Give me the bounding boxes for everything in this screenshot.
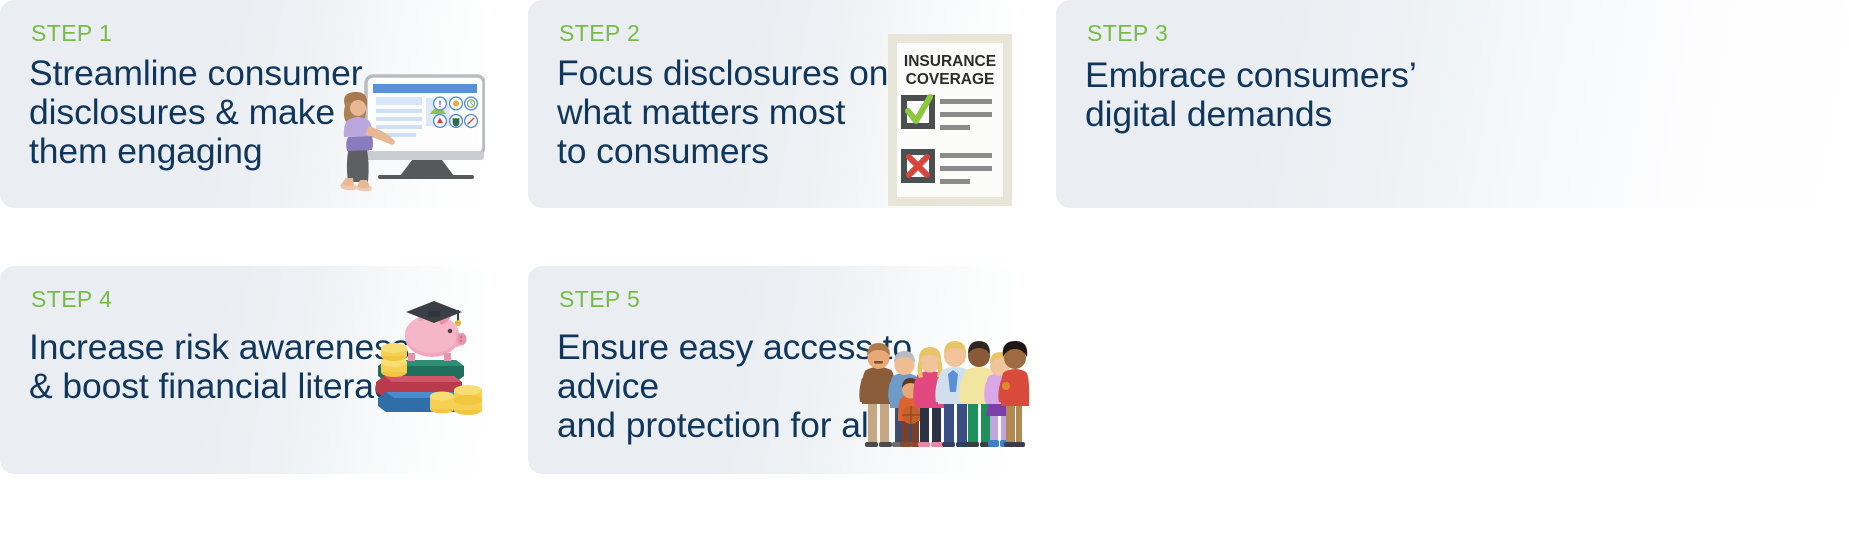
step-label-5: STEP 5 [559,286,640,313]
woman-at-monitor-icon: ! [318,72,485,192]
group-of-people-icon [856,332,1022,450]
doc-heading-line1: INSURANCE [904,53,996,70]
steps-board: STEP 1 Streamline consumer disclosures &… [0,0,1849,549]
step-title-1: Streamline consumer disclosures & make t… [29,54,363,171]
piggy-bank-books-coins-icon [372,290,484,415]
step-label-4: STEP 4 [31,286,112,313]
step-title-4: Increase risk awareness & boost financia… [29,328,409,406]
step-title-2: Focus disclosures on what matters most t… [557,54,888,171]
step-title-3: Embrace consumers’ digital demands [1085,56,1417,134]
svg-text:!: ! [439,99,442,109]
doc-heading-line2: COVERAGE [906,71,995,88]
step-label-1: STEP 1 [31,20,112,47]
step-card-3[interactable]: STEP 3 Embrace consumers’ digital demand… [1056,0,1849,208]
step-label-3: STEP 3 [1087,20,1168,47]
insurance-coverage-document-icon: INSURANCE COVERAGE [888,34,1012,206]
step-card-1[interactable]: STEP 1 Streamline consumer disclosures &… [0,0,485,208]
step-label-2: STEP 2 [559,20,640,47]
